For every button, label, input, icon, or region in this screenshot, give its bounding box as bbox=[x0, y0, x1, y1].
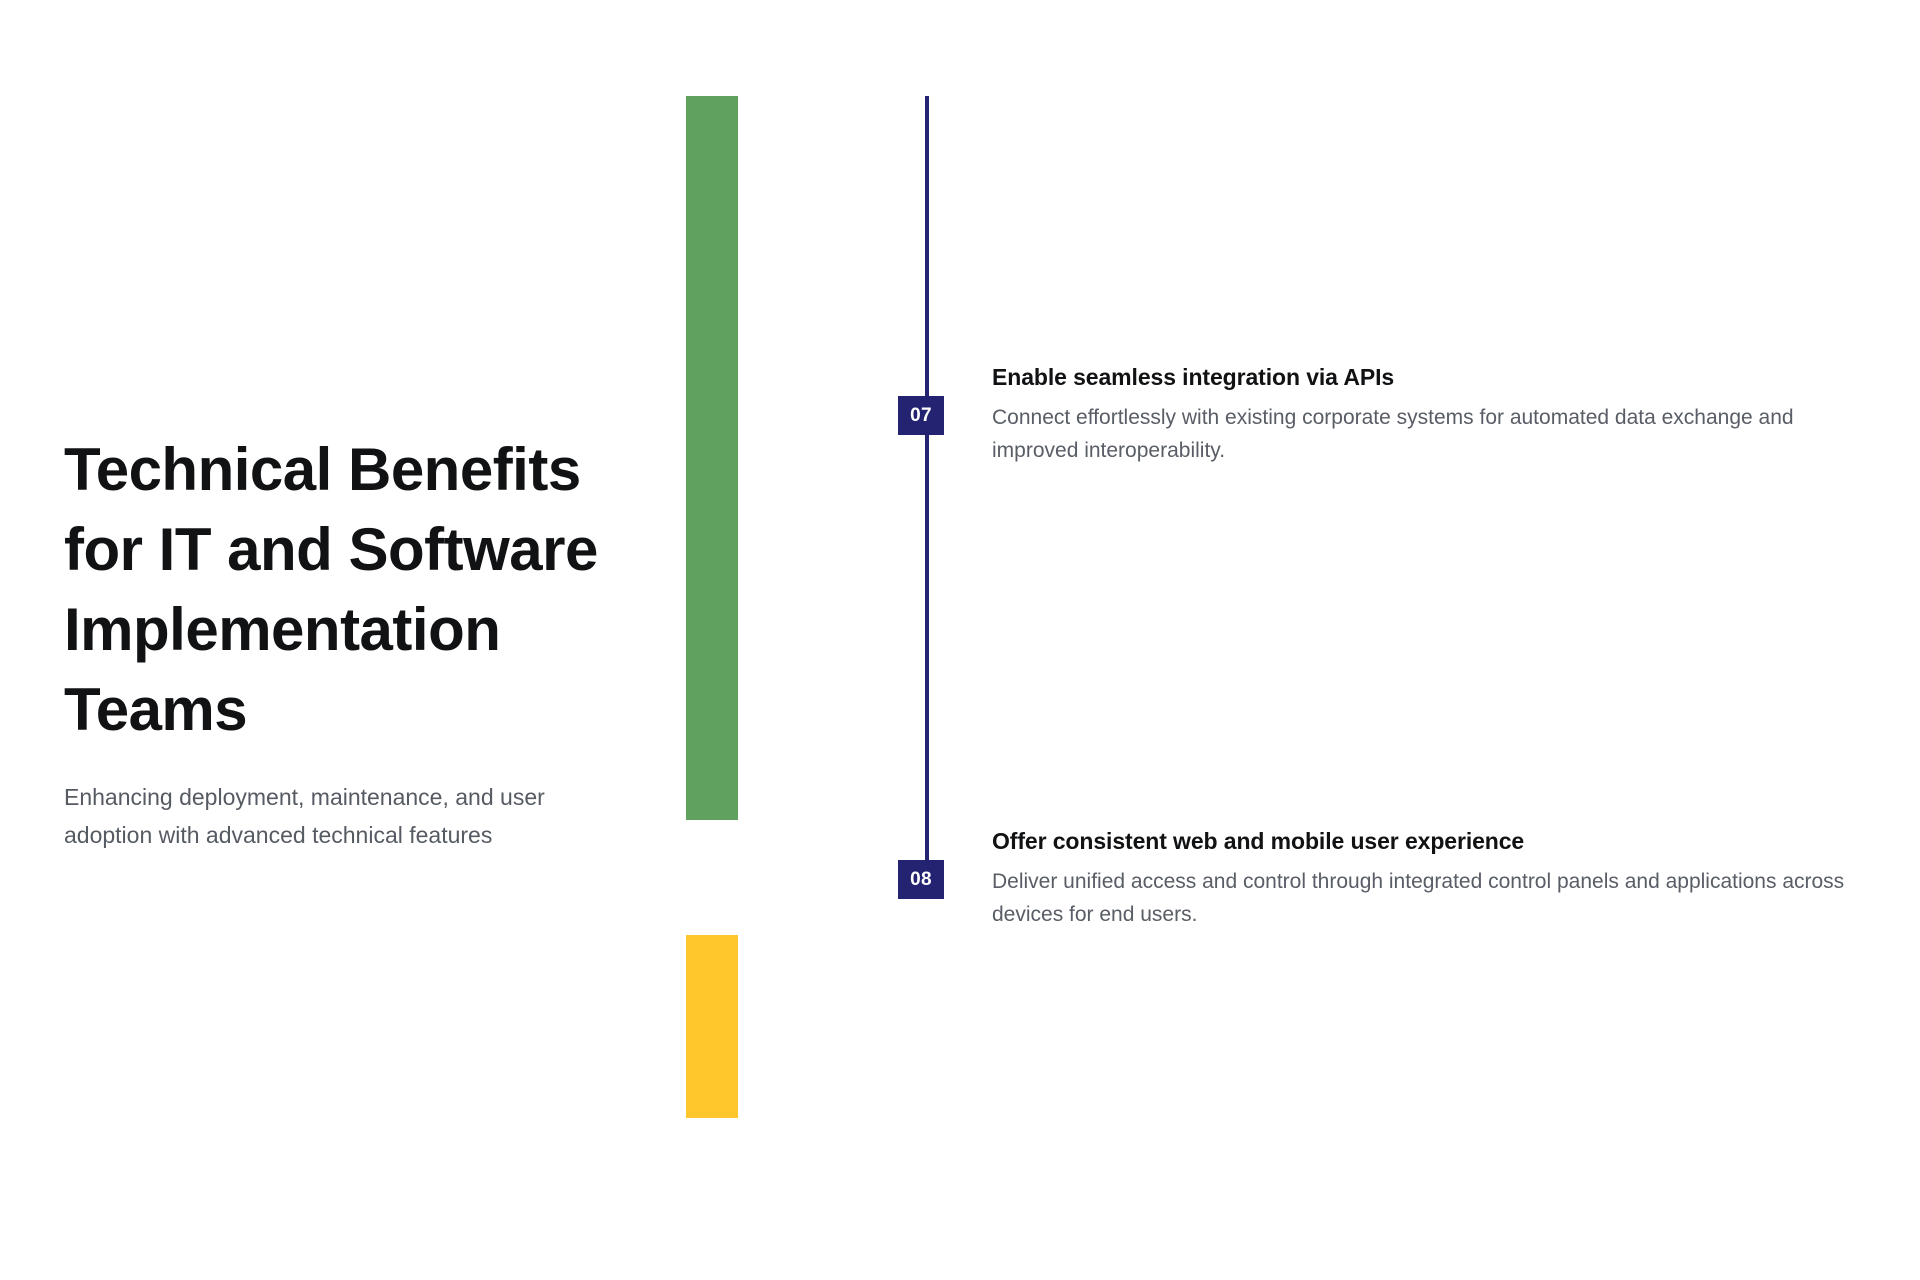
timeline-content-08: Offer consistent web and mobile user exp… bbox=[992, 826, 1872, 931]
timeline-badge-07: 07 bbox=[898, 396, 944, 435]
slide-canvas: Technical Benefits for IT and Software I… bbox=[0, 0, 1920, 1280]
page-subtitle: Enhancing deployment, maintenance, and u… bbox=[64, 778, 624, 854]
timeline-description: Deliver unified access and control throu… bbox=[992, 865, 1872, 931]
green-accent-bar bbox=[686, 96, 738, 820]
title-block: Technical Benefits for IT and Software I… bbox=[64, 430, 624, 854]
page-title: Technical Benefits for IT and Software I… bbox=[64, 430, 624, 750]
timeline-badge-number: 08 bbox=[910, 869, 932, 891]
timeline-content-07: Enable seamless integration via APIs Con… bbox=[992, 362, 1872, 467]
timeline-description: Connect effortlessly with existing corpo… bbox=[992, 401, 1872, 467]
yellow-accent-bar bbox=[686, 935, 738, 1118]
timeline-heading: Enable seamless integration via APIs bbox=[992, 362, 1872, 392]
timeline-badge-number: 07 bbox=[910, 405, 932, 427]
timeline-axis-line bbox=[925, 96, 929, 860]
timeline-heading: Offer consistent web and mobile user exp… bbox=[992, 826, 1872, 856]
timeline-badge-08: 08 bbox=[898, 860, 944, 899]
